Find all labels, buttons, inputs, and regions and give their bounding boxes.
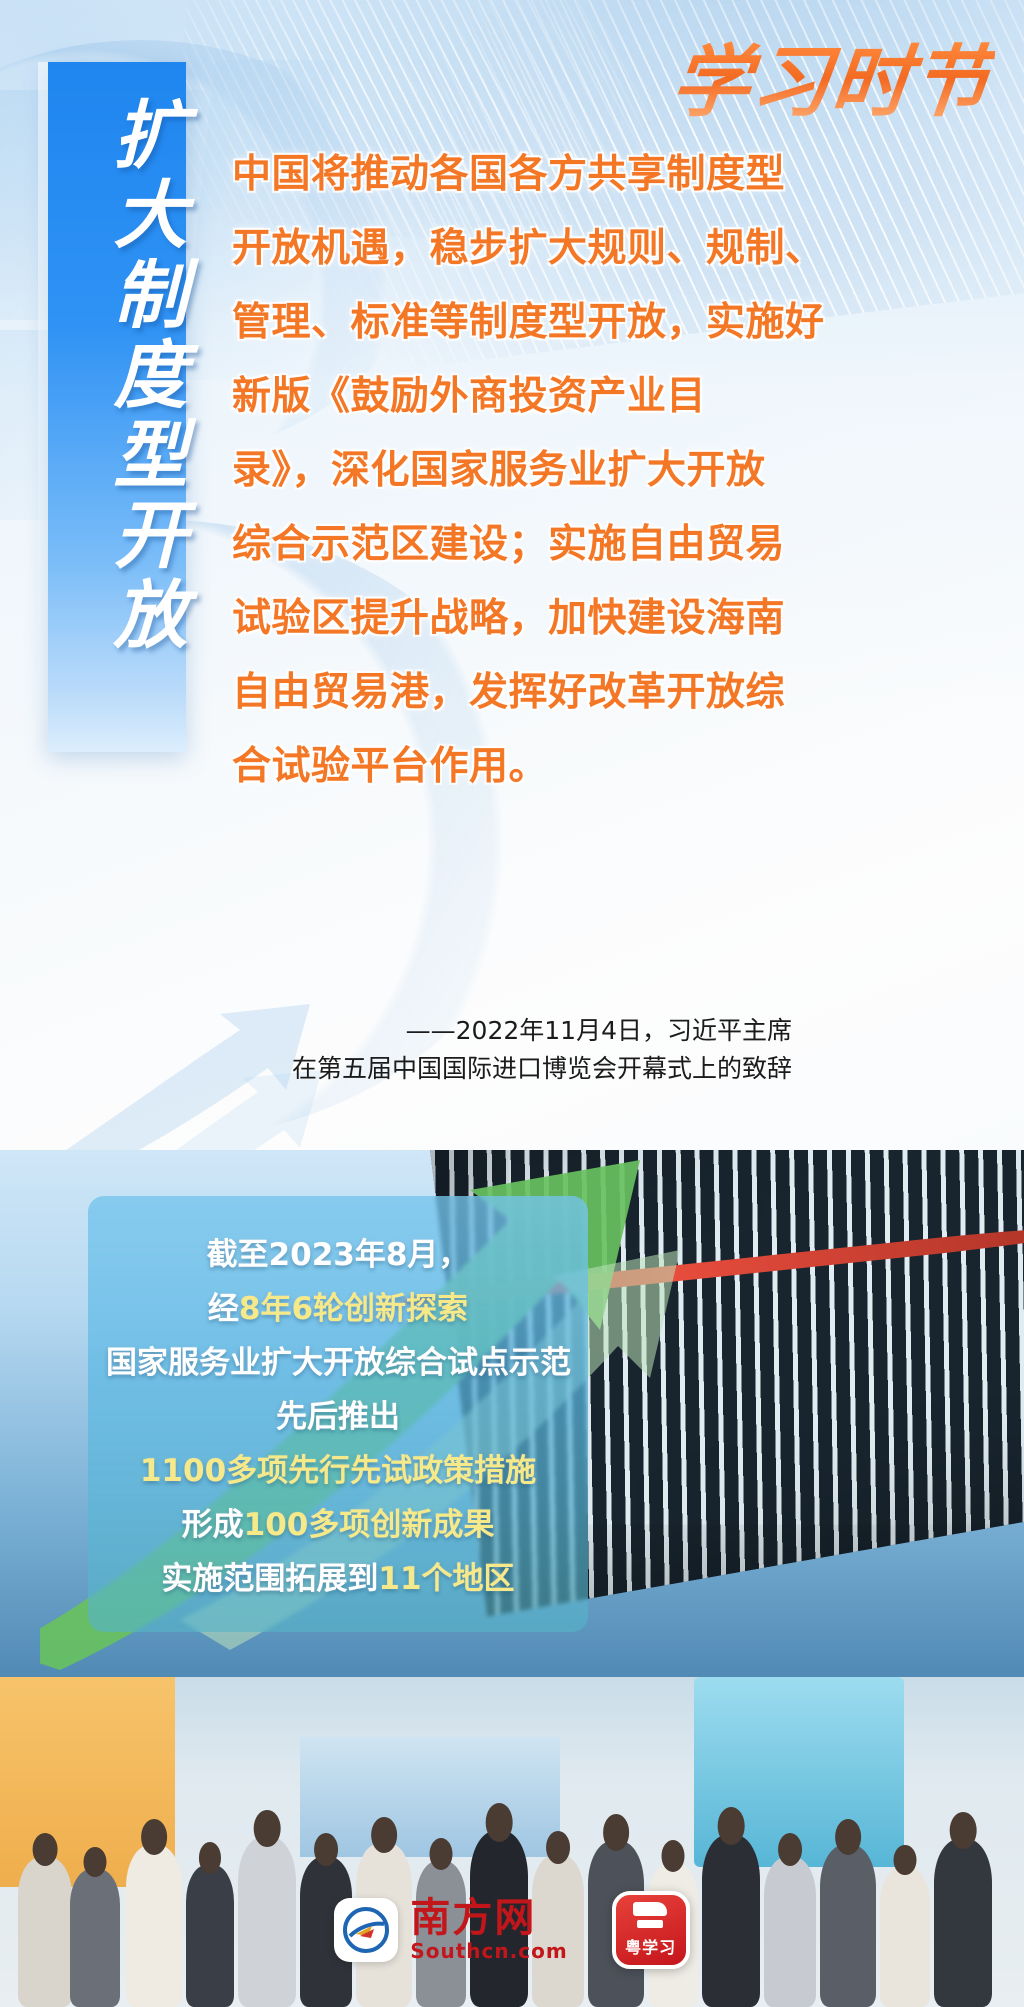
- quote-line: 开放机遇，稳步扩大规则、规制、: [232, 212, 780, 286]
- southcn-wordmark: 南方网 Southcn.com: [410, 1897, 567, 1963]
- quote-block: 中国将推动各国各方共享制度型 开放机遇，稳步扩大规则、规制、 管理、标准等制度型…: [232, 138, 780, 804]
- yuexuexi-app-icon[interactable]: 粤学习: [612, 1891, 690, 1969]
- stats-line-3: 国家服务业扩大开放综合试点示范: [106, 1336, 570, 1390]
- stats-highlight: 8年6轮创新探索: [239, 1291, 468, 1327]
- southcn-name-en: Southcn.com: [410, 1939, 567, 1963]
- brand-title-area: 学习时节: [570, 36, 1000, 132]
- stats-line-2: 经8年6轮创新探索: [106, 1282, 570, 1336]
- visitor-crowd: [0, 1757, 1024, 2007]
- yuexuexi-label: 粤学习: [625, 1934, 676, 1958]
- stats-line-6: 形成100多项创新成果: [106, 1498, 570, 1552]
- stats-line-1: 截至2023年8月，: [106, 1228, 570, 1282]
- southcn-name-cn: 南方网: [410, 1897, 536, 1939]
- quote-line: 综合示范区建设；实施自由贸易: [232, 508, 780, 582]
- quote-line: 中国将推动各国各方共享制度型: [232, 138, 780, 212]
- southcn-logo[interactable]: 南方网 Southcn.com: [334, 1897, 567, 1963]
- stats-highlight: 100多项创新成果: [244, 1507, 495, 1543]
- vertical-banner: 扩大制度型开放: [48, 62, 186, 752]
- stats-line-7: 实施范围拓展到11个地区: [106, 1552, 570, 1606]
- poster-root: 学习时节 扩大制度型开放 中国将推动各国各方共享制度型 开放机遇，稳步扩大规则、…: [0, 0, 1024, 2007]
- quote-line: 合试验平台作用。: [232, 730, 780, 804]
- stats-text: 先后推出: [276, 1399, 400, 1435]
- attribution-line: ——2022年11月4日，习近平主席: [232, 1012, 792, 1050]
- vertical-banner-title: 扩大制度型开放: [48, 96, 186, 656]
- stats-line-5: 1100多项先行先试政策措施: [106, 1444, 570, 1498]
- quote-line: 自由贸易港，发挥好改革开放综: [232, 656, 780, 730]
- stats-highlight: 11个地区: [378, 1561, 514, 1597]
- stats-highlight: 1100多项先行先试政策措施: [140, 1453, 536, 1489]
- stats-text: 实施范围拓展到: [161, 1561, 378, 1597]
- yuexuexi-glyph-icon: [631, 1902, 671, 1932]
- stats-text: 国家服务业扩大开放综合试点示范: [106, 1345, 571, 1381]
- stats-line-4: 先后推出: [106, 1390, 570, 1444]
- footer-logos: 南方网 Southcn.com 粤学习: [0, 1891, 1024, 1969]
- quote-line: 新版《鼓励外商投资产业目: [232, 360, 780, 434]
- page-title: 学习时节: [667, 40, 996, 126]
- stats-card: 截至2023年8月， 经8年6轮创新探索 国家服务业扩大开放综合试点示范 先后推…: [88, 1196, 588, 1632]
- stats-text: 截至2023年8月，: [207, 1237, 470, 1273]
- stats-text: 形成: [182, 1507, 244, 1543]
- quote-line: 管理、标准等制度型开放，实施好: [232, 286, 780, 360]
- attribution-line: 在第五届中国国际进口博览会开幕式上的致辞: [232, 1050, 792, 1088]
- quote-line: 试验区提升战略，加快建设海南: [232, 582, 780, 656]
- stats-text: 经: [208, 1291, 239, 1327]
- southcn-mark-icon: [334, 1898, 398, 1962]
- quote-line: 录》，深化国家服务业扩大开放: [232, 434, 780, 508]
- quote-attribution: ——2022年11月4日，习近平主席 在第五届中国国际进口博览会开幕式上的致辞: [232, 1012, 792, 1088]
